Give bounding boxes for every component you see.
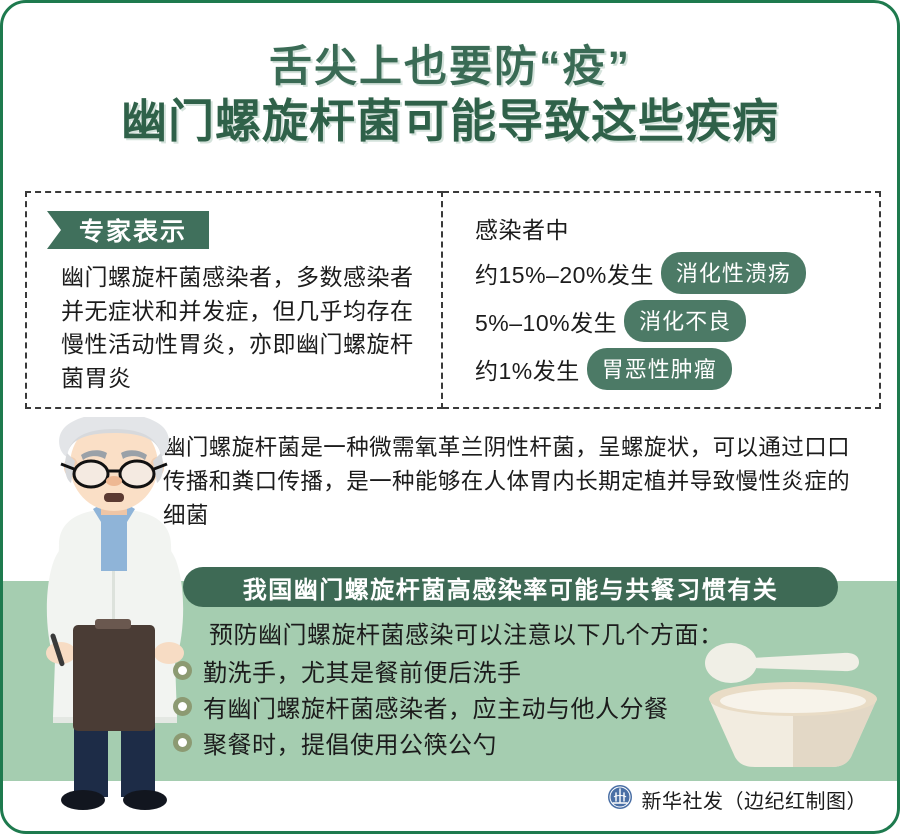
status-badge: 消化不良 [624, 300, 746, 342]
statistics-box: 感染者中 约15%–20%发生 消化性溃疡 5%–10%发生 消化不良 约1%发… [443, 191, 881, 409]
infographic-poster: 舌尖上也要防“疫” 幽门螺旋杆菌可能导致这些疾病 专家表示 幽门螺旋杆菌感染者，… [0, 0, 900, 834]
table-row: 5%–10%发生 消化不良 [475, 297, 869, 345]
credit-line: 新华社发（边纪红制图） [607, 784, 868, 815]
title-line-2: 幽门螺旋杆菌可能导致这些疾病 [3, 93, 897, 149]
list-item: 有幽门螺旋杆菌感染者，应主动与他人分餐 [173, 688, 813, 724]
expert-statement-box: 专家表示 幽门螺旋杆菌感染者，多数感染者并无症状和并发症，但几乎均存在慢性活动性… [25, 191, 443, 409]
list-item: 聚餐时，提倡使用公筷公勺 [173, 724, 813, 760]
ring-bullet-icon [173, 661, 192, 680]
status-badge: 胃恶性肿瘤 [587, 348, 732, 390]
prevention-heading: 预防幽门螺旋杆菌感染可以注意以下几个方面： [209, 615, 813, 650]
highlight-banner: 我国幽门螺旋杆菌高感染率可能与共餐习惯有关 [183, 567, 838, 607]
expert-tag-banner: 专家表示 [47, 211, 209, 249]
list-item-label: 有幽门螺旋杆菌感染者，应主动与他人分餐 [203, 689, 669, 724]
title-line-1: 舌尖上也要防“疫” [3, 41, 897, 93]
stat-prefix: 约15%–20%发生 [475, 256, 654, 290]
prevention-section: 预防幽门螺旋杆菌感染可以注意以下几个方面： 勤洗手，尤其是餐前便后洗手 有幽门螺… [173, 615, 813, 760]
info-boxes-row: 专家表示 幽门螺旋杆菌感染者，多数感染者并无症状和并发症，但几乎均存在慢性活动性… [25, 191, 881, 409]
list-item-label: 勤洗手，尤其是餐前便后洗手 [203, 653, 522, 688]
page-title: 舌尖上也要防“疫” 幽门螺旋杆菌可能导致这些疾病 [3, 41, 897, 150]
list-item-label: 聚餐时，提倡使用公筷公勺 [203, 725, 497, 760]
expert-statement-text: 幽门螺旋杆菌感染者，多数感染者并无症状和并发症，但几乎均存在慢性活动性胃炎，亦即… [61, 261, 425, 395]
ring-bullet-icon [173, 733, 192, 752]
status-badge: 消化性溃疡 [661, 252, 806, 294]
statistics-rows: 约15%–20%发生 消化性溃疡 5%–10%发生 消化不良 约1%发生 胃恶性… [475, 249, 869, 393]
table-row: 约15%–20%发生 消化性溃疡 [475, 249, 869, 297]
stat-prefix: 约1%发生 [475, 352, 580, 386]
credit-text: 新华社发（边纪红制图） [642, 785, 868, 814]
xinhua-logo-icon [607, 784, 633, 815]
description-paragraph: 幽门螺旋杆菌是一种微需氧革兰阴性杆菌，呈螺旋状，可以通过口口传播和粪口传播，是一… [163, 431, 863, 534]
statistics-heading: 感染者中 [475, 211, 569, 245]
table-row: 约1%发生 胃恶性肿瘤 [475, 345, 869, 393]
list-item: 勤洗手，尤其是餐前便后洗手 [173, 652, 813, 688]
stat-prefix: 5%–10%发生 [475, 304, 617, 338]
ring-bullet-icon [173, 697, 192, 716]
